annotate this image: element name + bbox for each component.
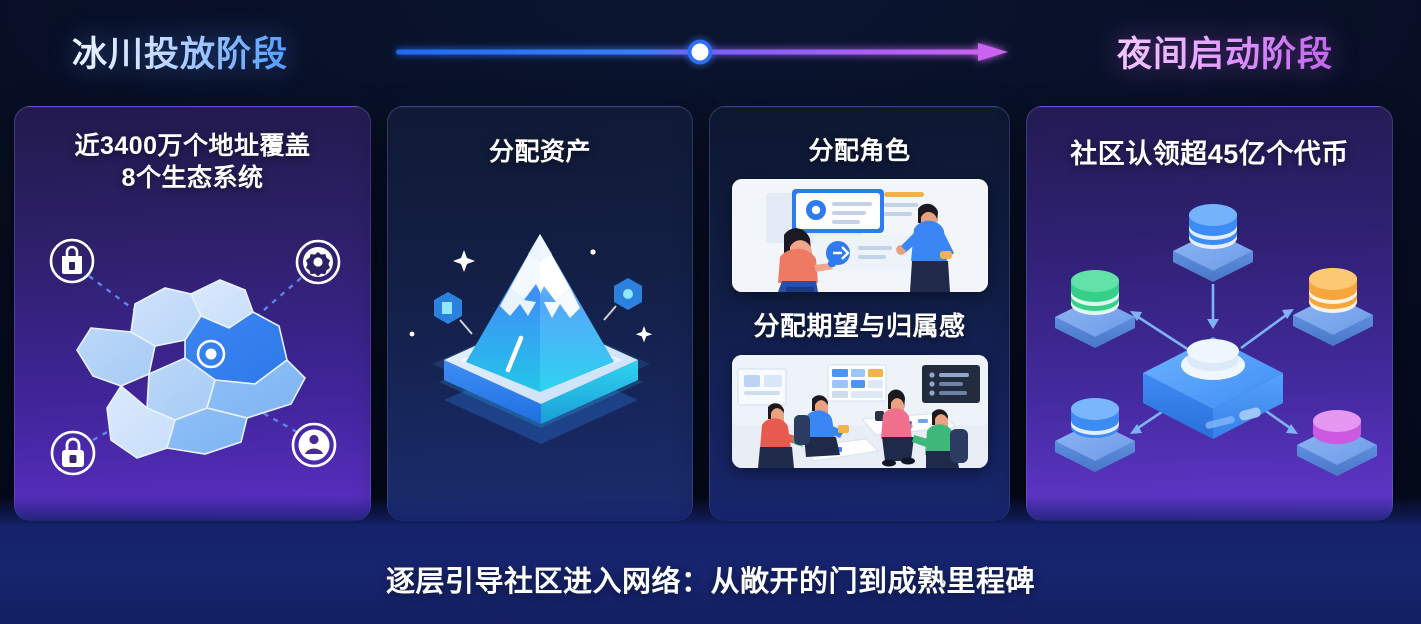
stage-heading-right: 夜间启动阶段 <box>1117 26 1333 77</box>
coverage-map-svg <box>15 208 371 508</box>
coverage-map-graphic <box>15 208 370 513</box>
bag-icon <box>51 240 93 282</box>
card-3-title-secondary: 分配期望与归属感 <box>710 306 1009 343</box>
network-node-left <box>1055 270 1135 348</box>
card-4-title: 社区认领超45亿个代币 <box>1027 132 1392 171</box>
glacier-mountain-graphic <box>388 192 692 497</box>
card-allocate-assets[interactable]: 分配资产 <box>387 106 693 521</box>
hub-network-graphic <box>1027 187 1392 512</box>
card-1-title-line2: 8个生态系统 <box>31 163 354 195</box>
network-hub <box>1143 337 1283 439</box>
stage-heading-left: 冰川投放阶段 <box>72 26 288 77</box>
card-2-title: 分配资产 <box>388 132 692 168</box>
card-1-title-line1: 近3400万个地址覆盖 <box>31 131 354 163</box>
progress-arrow-svg <box>392 30 1012 74</box>
card-3-title: 分配角色 <box>710 131 1009 167</box>
network-node-top <box>1173 204 1253 282</box>
crystal-left-icon <box>434 292 472 334</box>
infographic-stage: 冰川投放阶段 夜间启动阶段 <box>0 0 1421 624</box>
whiteboard-discussion-illustration <box>732 179 988 292</box>
hub-network-svg <box>1027 187 1393 507</box>
card-glacier-airdrop-coverage[interactable]: 近3400万个地址覆盖 8个生态系统 <box>14 106 371 521</box>
footer-caption: 逐层引导社区进入网络：从敞开的门到成熟里程碑 <box>0 558 1421 600</box>
card-community-claim[interactable]: 社区认领超45亿个代币 <box>1026 106 1393 521</box>
card-1-title: 近3400万个地址覆盖 8个生态系统 <box>15 131 370 194</box>
network-node-bottom-left <box>1055 398 1135 472</box>
whiteboard-discussion-svg <box>732 179 988 292</box>
office-meeting-svg <box>732 355 988 468</box>
user-icon <box>293 424 335 466</box>
gear-icon <box>297 241 339 283</box>
crystal-right-icon <box>604 278 642 320</box>
office-meeting-illustration <box>732 355 988 468</box>
lock-icon <box>52 432 94 474</box>
progress-arrow <box>392 30 1012 74</box>
glacier-mountain-svg <box>388 192 693 492</box>
network-node-bottom-right <box>1297 410 1377 476</box>
network-node-right <box>1293 268 1373 346</box>
stage-cards: 近3400万个地址覆盖 8个生态系统 <box>14 106 1393 521</box>
card-allocate-roles[interactable]: 分配角色 <box>709 106 1010 521</box>
